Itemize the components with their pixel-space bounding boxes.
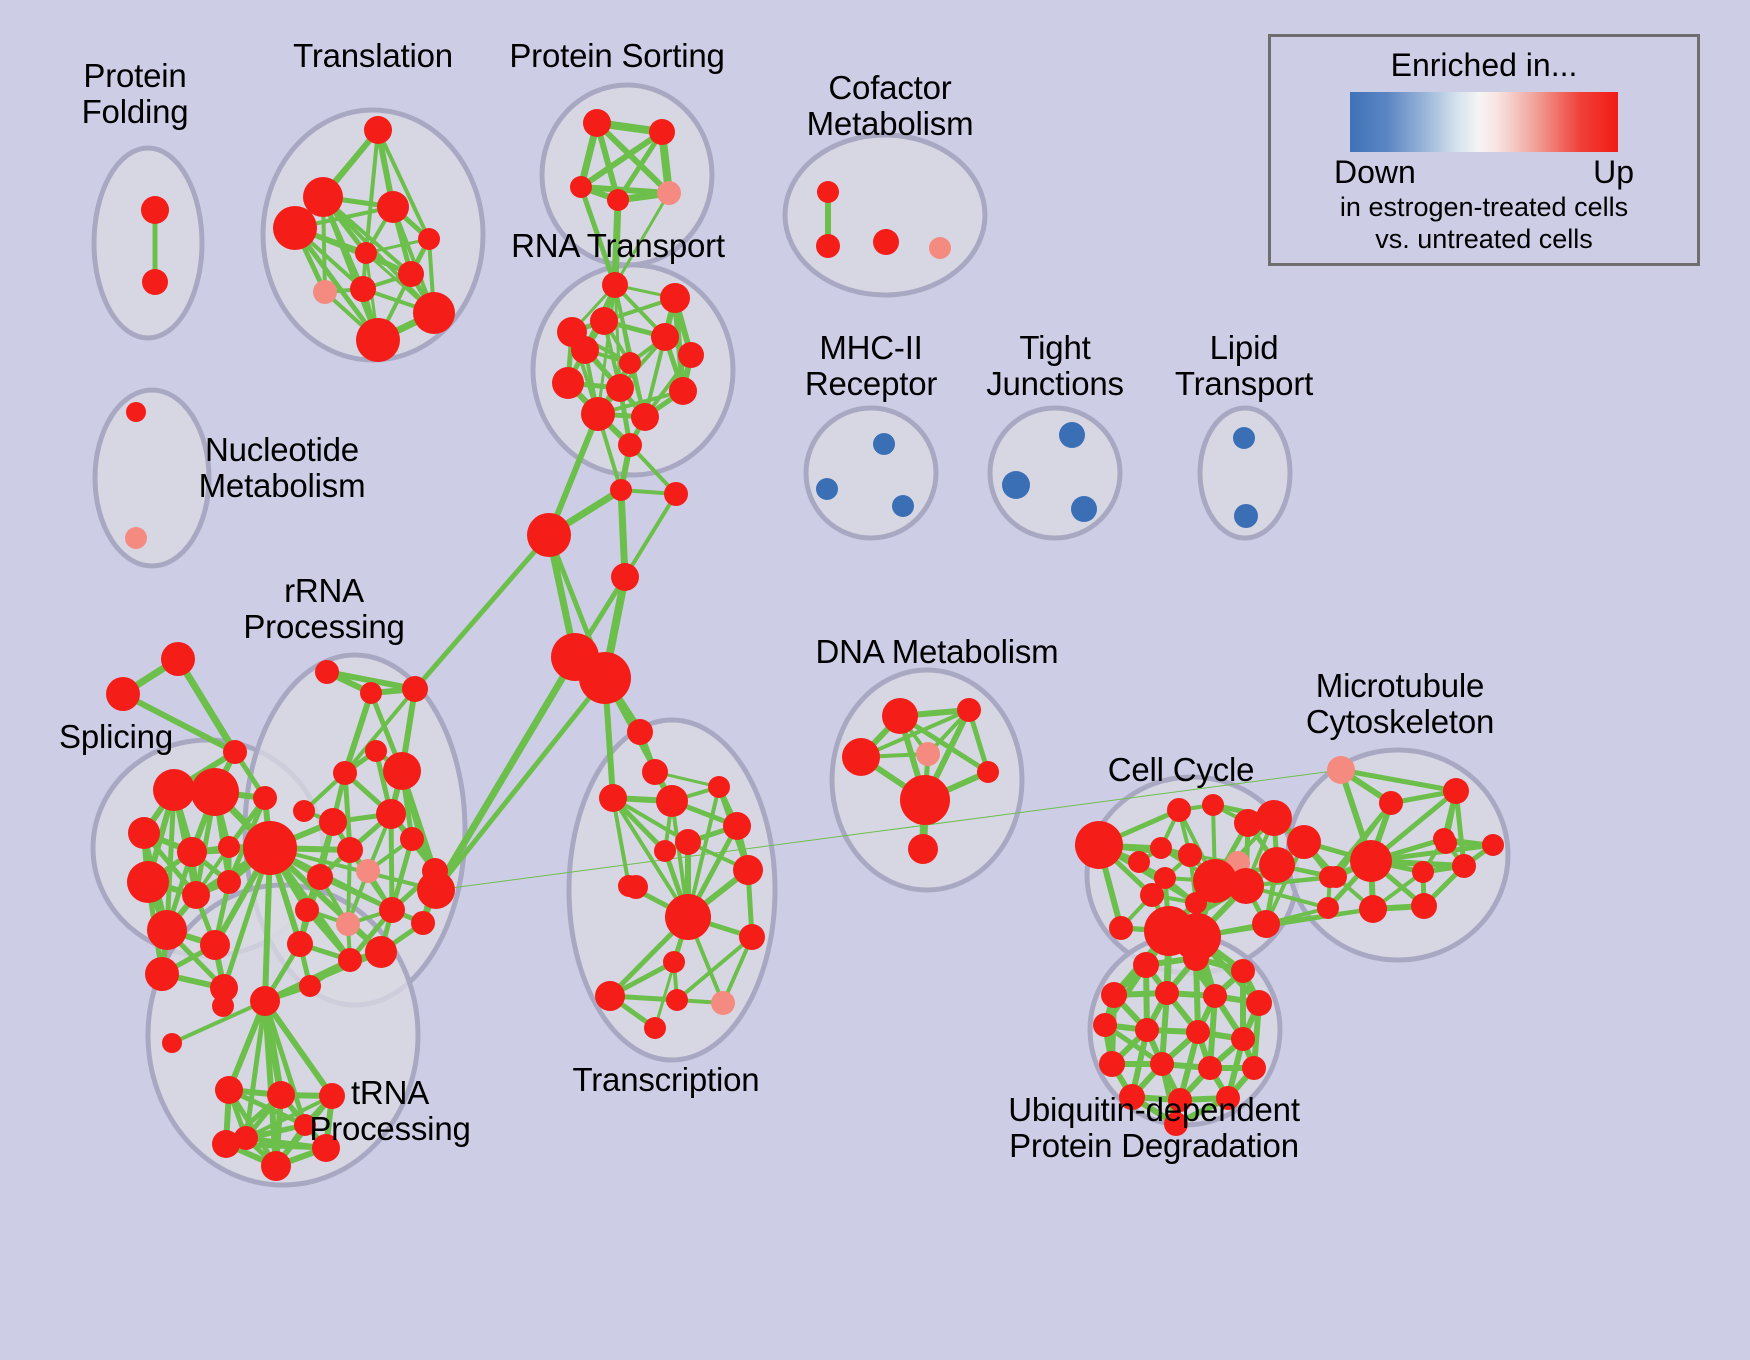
cluster-hull — [806, 408, 936, 538]
gene-set-node[interactable] — [649, 119, 675, 145]
gene-set-node[interactable] — [319, 808, 347, 836]
gene-set-node[interactable] — [299, 975, 321, 997]
gene-set-node[interactable] — [957, 698, 981, 722]
gene-set-node[interactable] — [579, 652, 631, 704]
cluster-hull — [785, 135, 985, 295]
gene-set-node[interactable] — [1155, 981, 1179, 1005]
gene-set-node[interactable] — [1231, 959, 1255, 983]
gene-set-node[interactable] — [678, 342, 704, 368]
cluster-label-nucleotide: Nucleotide Metabolism — [199, 432, 366, 503]
legend-title: Enriched in... — [1391, 47, 1578, 84]
legend-caption-line2: vs. untreated cells — [1375, 224, 1593, 255]
gene-set-node[interactable] — [217, 870, 241, 894]
gene-set-node[interactable] — [355, 242, 377, 264]
gene-set-node[interactable] — [611, 563, 639, 591]
gene-set-node[interactable] — [250, 986, 280, 1016]
gene-set-node[interactable] — [215, 1076, 243, 1104]
gene-set-node[interactable] — [295, 898, 319, 922]
gene-set-node[interactable] — [106, 677, 140, 711]
cluster-hull — [95, 390, 209, 566]
gene-set-node[interactable] — [882, 698, 918, 734]
network-edge — [625, 494, 676, 577]
legend: Enriched in... Down Up in estrogen-treat… — [1268, 34, 1700, 266]
gene-set-node[interactable] — [1071, 496, 1097, 522]
gene-set-node[interactable] — [1228, 868, 1264, 904]
gene-set-node[interactable] — [182, 881, 210, 909]
gene-set-node[interactable] — [1327, 756, 1355, 784]
gene-set-node[interactable] — [1133, 952, 1159, 978]
gene-set-node[interactable] — [1379, 791, 1403, 815]
gene-set-node[interactable] — [651, 323, 679, 351]
cluster-label-cofactor: Cofactor Metabolism — [807, 70, 974, 141]
gene-set-node[interactable] — [624, 875, 648, 899]
gene-set-node[interactable] — [664, 482, 688, 506]
legend-endpoint-labels: Down Up — [1334, 154, 1634, 191]
gene-set-node[interactable] — [644, 1017, 666, 1039]
gene-set-node[interactable] — [916, 742, 940, 766]
gene-set-node[interactable] — [1099, 1051, 1125, 1077]
gene-set-node[interactable] — [315, 660, 339, 684]
gene-set-node[interactable] — [527, 513, 571, 557]
gene-set-node[interactable] — [1234, 504, 1258, 528]
gene-set-node[interactable] — [631, 403, 659, 431]
gene-set-node[interactable] — [338, 948, 362, 972]
gene-set-node[interactable] — [1259, 847, 1295, 883]
gene-set-node[interactable] — [1198, 1056, 1222, 1080]
gene-set-node[interactable] — [1002, 471, 1030, 499]
cluster-label-splicing: Splicing — [59, 719, 173, 755]
gene-set-node[interactable] — [665, 894, 711, 940]
gene-set-node[interactable] — [243, 821, 297, 875]
cluster-label-ubiquitin: Ubiquitin-dependent Protein Degradation — [1008, 1092, 1300, 1163]
cluster-label-microtubule: Microtubule Cytoskeleton — [1306, 668, 1494, 739]
gene-set-node[interactable] — [1231, 1027, 1255, 1051]
gene-set-node[interactable] — [125, 527, 147, 549]
gene-set-node[interactable] — [656, 785, 688, 817]
gene-set-node[interactable] — [337, 837, 363, 863]
gene-set-node[interactable] — [376, 799, 406, 829]
gene-set-node[interactable] — [1350, 840, 1392, 882]
gene-set-node[interactable] — [1233, 427, 1255, 449]
cluster-label-trna-processing: tRNA Processing — [309, 1075, 470, 1146]
gene-set-node[interactable] — [1246, 990, 1272, 1016]
cluster-label-dna-metabolism: DNA Metabolism — [816, 634, 1059, 670]
gene-set-node[interactable] — [356, 859, 380, 883]
gene-set-node[interactable] — [1482, 834, 1504, 856]
gene-set-node[interactable] — [411, 911, 435, 935]
enrichment-map-figure: Protein FoldingTranslationProtein Sortin… — [0, 0, 1750, 1360]
gene-set-node[interactable] — [253, 786, 277, 810]
gene-set-node[interactable] — [817, 181, 839, 203]
gene-set-node[interactable] — [418, 228, 440, 250]
gene-set-node[interactable] — [1109, 916, 1133, 940]
gene-set-node[interactable] — [142, 269, 168, 295]
legend-low-label: Down — [1334, 154, 1416, 191]
gene-set-node[interactable] — [610, 479, 632, 501]
gene-set-node[interactable] — [595, 981, 625, 1011]
gene-set-node[interactable] — [177, 837, 207, 867]
gene-set-node[interactable] — [708, 776, 730, 798]
gene-set-node[interactable] — [711, 991, 735, 1015]
gene-set-node[interactable] — [571, 336, 599, 364]
gene-set-node[interactable] — [666, 989, 688, 1011]
gene-set-node[interactable] — [360, 682, 382, 704]
gene-set-node[interactable] — [313, 280, 337, 304]
gene-set-node[interactable] — [333, 761, 357, 785]
gene-set-node[interactable] — [141, 196, 169, 224]
gene-set-node[interactable] — [657, 181, 681, 205]
gene-set-node[interactable] — [383, 752, 421, 790]
legend-caption-line1: in estrogen-treated cells — [1340, 192, 1628, 223]
gene-set-node[interactable] — [581, 397, 615, 431]
gene-set-node[interactable] — [379, 897, 405, 923]
gene-set-node[interactable] — [145, 957, 179, 991]
gene-set-node[interactable] — [1443, 778, 1469, 804]
gene-set-node[interactable] — [293, 800, 315, 822]
gene-set-node[interactable] — [1075, 821, 1123, 869]
gene-set-node[interactable] — [1242, 1056, 1266, 1080]
gene-set-node[interactable] — [377, 191, 409, 223]
gene-set-node[interactable] — [570, 176, 592, 198]
cluster-label-tight-junctions: Tight Junctions — [986, 330, 1124, 401]
gene-set-node[interactable] — [127, 861, 169, 903]
gene-set-node[interactable] — [1150, 1052, 1174, 1076]
gene-set-node[interactable] — [364, 116, 392, 144]
gene-set-node[interactable] — [1101, 982, 1127, 1008]
gene-set-node[interactable] — [1140, 883, 1164, 907]
gene-set-node[interactable] — [153, 769, 195, 811]
gene-set-node[interactable] — [261, 1151, 291, 1181]
gene-set-node[interactable] — [126, 402, 146, 422]
gene-set-node[interactable] — [816, 234, 840, 258]
gene-set-node[interactable] — [1412, 861, 1434, 883]
gene-set-node[interactable] — [1452, 854, 1476, 878]
gene-set-node[interactable] — [723, 812, 751, 840]
gene-set-node[interactable] — [733, 855, 763, 885]
cluster-label-protein-folding: Protein Folding — [82, 58, 189, 129]
gene-set-node[interactable] — [654, 840, 676, 862]
gene-set-node[interactable] — [350, 276, 376, 302]
gene-set-node[interactable] — [398, 261, 424, 287]
gene-set-node[interactable] — [356, 318, 400, 362]
gene-set-node[interactable] — [287, 931, 313, 957]
cluster-label-translation: Translation — [293, 38, 453, 74]
cluster-label-transcription: Transcription — [573, 1062, 760, 1098]
gene-set-node[interactable] — [223, 740, 247, 764]
gene-set-node[interactable] — [1256, 800, 1292, 836]
cluster-label-protein-sorting: Protein Sorting — [509, 38, 724, 74]
gene-set-node[interactable] — [590, 307, 618, 335]
gene-set-node[interactable] — [873, 229, 899, 255]
gene-set-node[interactable] — [365, 740, 387, 762]
network-edge — [415, 535, 549, 689]
gene-set-node[interactable] — [552, 367, 584, 399]
gene-set-node[interactable] — [929, 237, 951, 259]
gene-set-node[interactable] — [365, 936, 397, 968]
gene-set-node[interactable] — [1128, 851, 1150, 873]
gene-set-node[interactable] — [1059, 422, 1085, 448]
cluster-label-rrna-processing: rRNA Processing — [243, 573, 404, 644]
gene-set-node[interactable] — [618, 433, 642, 457]
gene-set-node[interactable] — [977, 761, 999, 783]
gene-set-node[interactable] — [739, 924, 765, 950]
gene-set-node[interactable] — [1287, 825, 1321, 859]
gene-set-node[interactable] — [267, 1081, 295, 1109]
gene-set-node[interactable] — [642, 759, 668, 785]
cluster-label-lipid-transport: Lipid Transport — [1175, 330, 1313, 401]
gene-set-node[interactable] — [413, 292, 455, 334]
gene-set-node[interactable] — [1185, 892, 1207, 914]
gene-set-node[interactable] — [200, 930, 230, 960]
gene-set-node[interactable] — [892, 495, 914, 517]
gene-set-node[interactable] — [417, 871, 455, 909]
cluster-label-cell-cycle: Cell Cycle — [1108, 752, 1255, 788]
gene-set-node[interactable] — [1435, 832, 1457, 854]
legend-high-label: Up — [1593, 154, 1634, 191]
gene-set-node[interactable] — [1359, 895, 1387, 923]
gene-set-node[interactable] — [1252, 910, 1280, 938]
gene-set-node[interactable] — [1317, 897, 1339, 919]
gene-set-node[interactable] — [1183, 945, 1209, 971]
gene-set-node[interactable] — [234, 1126, 258, 1150]
gene-set-node[interactable] — [402, 676, 428, 702]
gene-set-node[interactable] — [873, 433, 895, 455]
gene-set-node[interactable] — [627, 719, 653, 745]
gene-set-node[interactable] — [660, 283, 690, 313]
cluster-label-mhc-ii: MHC-II Receptor — [805, 330, 937, 401]
gene-set-node[interactable] — [147, 910, 187, 950]
gene-set-node[interactable] — [583, 109, 611, 137]
gene-set-node[interactable] — [303, 177, 343, 217]
gene-set-node[interactable] — [273, 206, 317, 250]
gene-set-node[interactable] — [191, 768, 239, 816]
gene-set-node[interactable] — [212, 995, 234, 1017]
gene-set-node[interactable] — [599, 784, 627, 812]
gene-set-node[interactable] — [602, 272, 628, 298]
gene-set-node[interactable] — [1186, 1020, 1210, 1044]
cluster-hull — [94, 148, 202, 338]
gene-set-node[interactable] — [1167, 798, 1191, 822]
gene-set-node[interactable] — [162, 1033, 182, 1053]
gene-set-node[interactable] — [675, 829, 701, 855]
gene-set-node[interactable] — [663, 951, 685, 973]
gene-set-node[interactable] — [218, 836, 240, 858]
gene-set-node[interactable] — [816, 478, 838, 500]
gene-set-node[interactable] — [128, 817, 160, 849]
gene-set-node[interactable] — [1411, 893, 1437, 919]
gene-set-node[interactable] — [1150, 837, 1172, 859]
gene-set-node[interactable] — [1202, 794, 1224, 816]
gene-set-node[interactable] — [1203, 984, 1227, 1008]
gene-set-node[interactable] — [161, 642, 195, 676]
gene-set-node[interactable] — [1325, 866, 1347, 888]
legend-color-gradient — [1350, 92, 1618, 152]
gene-set-node[interactable] — [908, 834, 938, 864]
gene-set-node[interactable] — [606, 374, 634, 402]
gene-set-node[interactable] — [1178, 843, 1202, 867]
gene-set-node[interactable] — [307, 864, 333, 890]
gene-set-node[interactable] — [336, 912, 360, 936]
gene-set-node[interactable] — [900, 775, 950, 825]
gene-set-node[interactable] — [842, 738, 880, 776]
gene-set-node[interactable] — [1135, 1018, 1159, 1042]
gene-set-node[interactable] — [619, 352, 641, 374]
gene-set-node[interactable] — [400, 827, 424, 851]
gene-set-node[interactable] — [1093, 1013, 1117, 1037]
cluster-label-rna-transport: RNA Transport — [511, 228, 725, 264]
gene-set-node[interactable] — [607, 189, 629, 211]
gene-set-node[interactable] — [669, 377, 697, 405]
